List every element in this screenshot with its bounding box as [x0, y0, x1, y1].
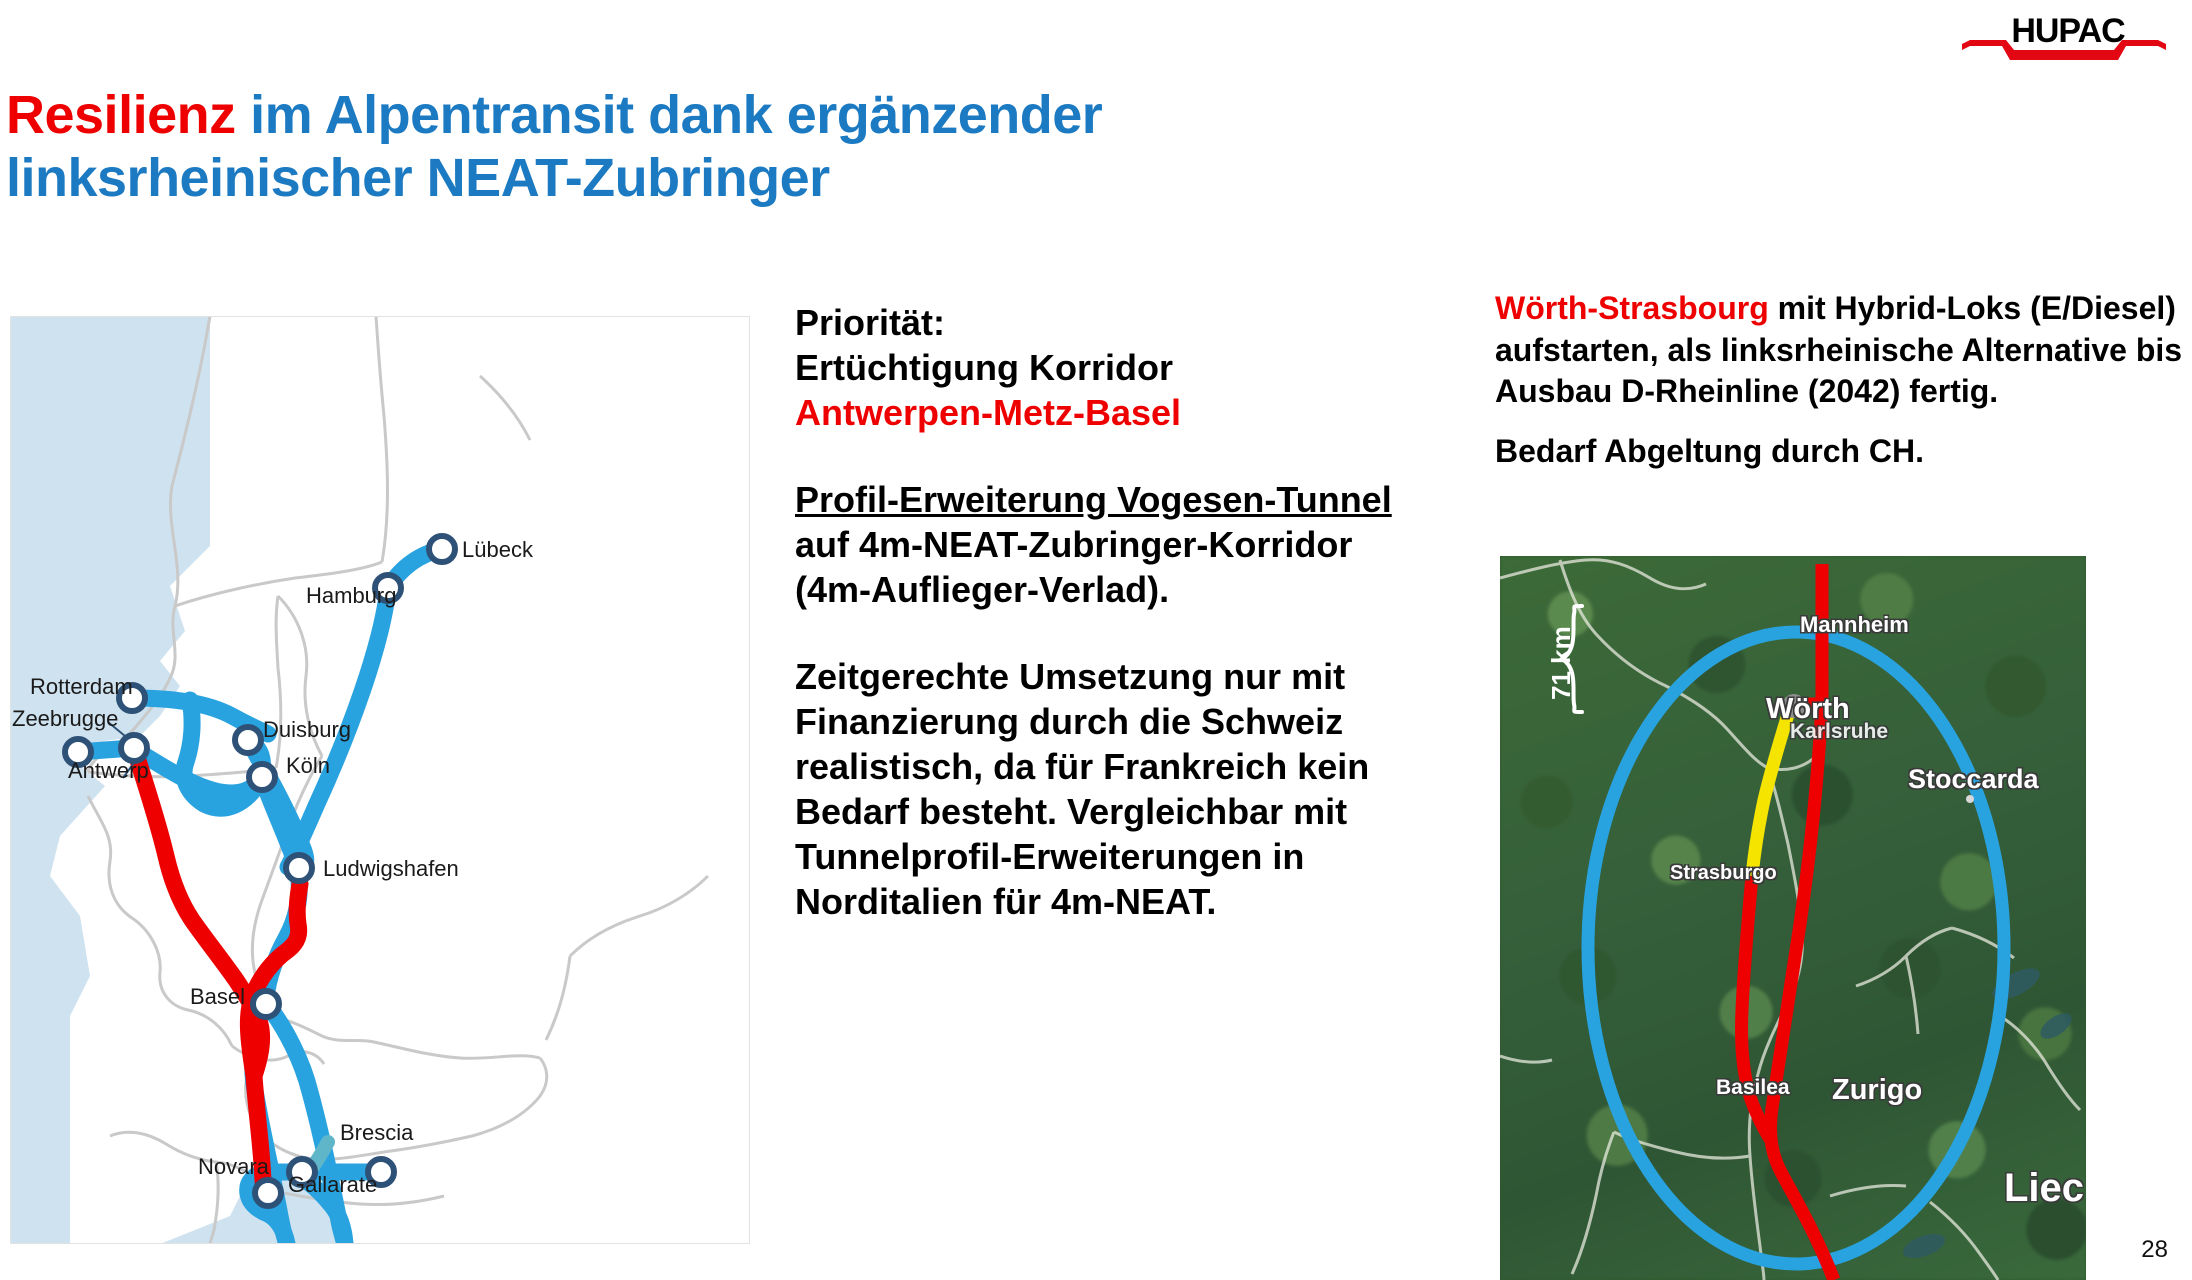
title-rest: im Alpentransit dank ergänzender — [236, 85, 1103, 145]
right-paragraph-1-red: Wörth-Strasbourg — [1495, 290, 1769, 326]
city-label-novara: Novara — [198, 1154, 269, 1180]
mid-gap-2 — [795, 612, 1425, 654]
city-label-gallarate: Gallarate — [288, 1172, 377, 1198]
node-lubeck — [429, 536, 455, 562]
mid-paragraph-2: Profil-Erweiterung Vogesen-Tunnel auf 4m… — [795, 477, 1425, 612]
city-label-basel: Basel — [190, 984, 245, 1010]
city-label-antwerp: Antwerp — [68, 758, 149, 784]
node-duisburg — [235, 727, 261, 753]
node-novara — [255, 1180, 281, 1206]
node-koln — [249, 764, 275, 790]
city-label-lubeck: Lübeck — [462, 537, 533, 563]
right-paragraph-1: Wörth-Strasbourg mit Hybrid-Loks (E/Dies… — [1495, 288, 2185, 413]
mid-paragraph-3: Zeitgerechte Umsetzung nur mit Finanzier… — [795, 654, 1425, 924]
mid-heading: Priorität: Ertüchtigung Korridor Antwerp… — [795, 300, 1425, 435]
page-title: Resilienz im Alpentransit dank ergänzend… — [6, 84, 1706, 210]
satellite-lakes — [1900, 962, 2076, 1263]
red-rail-lines — [1742, 564, 1834, 1280]
middle-text-column: Priorität: Ertüchtigung Korridor Antwerp… — [795, 300, 1425, 924]
city-label-zeebrugge: Zeebrugge — [12, 706, 118, 732]
right-paragraph-2: Bedarf Abgeltung durch CH. — [1495, 431, 2185, 473]
city-label-duisburg: Duisburg — [263, 717, 351, 743]
title-line2: linksrheinischer NEAT-Zubringer — [6, 148, 830, 208]
hupac-logo-text: HUPAC — [1988, 12, 2148, 50]
mid-gap-1 — [795, 435, 1425, 477]
title-highlight: Resilienz — [6, 85, 236, 145]
mid-paragraph-2-underlined: Profil-Erweiterung Vogesen-Tunnel — [795, 479, 1392, 520]
sat-label-liec: Liec — [2004, 1166, 2084, 1211]
city-label-hamburg: Hamburg — [306, 583, 396, 609]
city-label-ludwigshafen: Ludwigshafen — [323, 856, 459, 882]
mid-heading-line1: Priorität: — [795, 300, 1425, 345]
mid-paragraph-2-rest: auf 4m-NEAT-Zubringer-Korridor (4m-Aufli… — [795, 524, 1352, 610]
hupac-logo: HUPAC — [1960, 10, 2168, 66]
yellow-hybrid-section — [1752, 708, 1790, 876]
sat-label-strasburgo: Strasburgo — [1670, 862, 1777, 885]
sat-label-karlsruhe: Karlsruhe — [1790, 720, 1888, 744]
city-label-brescia: Brescia — [340, 1120, 413, 1146]
distance-label: 71 km — [1546, 660, 1666, 700]
page-number: 28 — [2141, 1236, 2168, 1264]
node-basel — [253, 991, 279, 1017]
city-label-rotterdam: Rotterdam — [30, 674, 133, 700]
sat-label-mannheim: Mannheim — [1800, 612, 1909, 638]
sat-label-stoccarda: Stoccarda — [1908, 764, 2039, 795]
node-ludwigshafen — [286, 855, 312, 881]
sat-label-basilea: Basilea — [1716, 1076, 1790, 1100]
right-text-column: Wörth-Strasbourg mit Hybrid-Loks (E/Dies… — [1495, 288, 2185, 472]
europe-corridor-map: Lübeck Hamburg Rotterdam Zeebrugge Duisb… — [10, 316, 750, 1244]
city-label-koln: Köln — [286, 753, 330, 779]
stuttgart-dot — [1966, 795, 1974, 803]
mid-heading-line2: Ertüchtigung Korridor — [795, 345, 1425, 390]
mid-heading-line3: Antwerpen-Metz-Basel — [795, 390, 1425, 435]
sat-label-zurigo: Zurigo — [1832, 1074, 1922, 1107]
